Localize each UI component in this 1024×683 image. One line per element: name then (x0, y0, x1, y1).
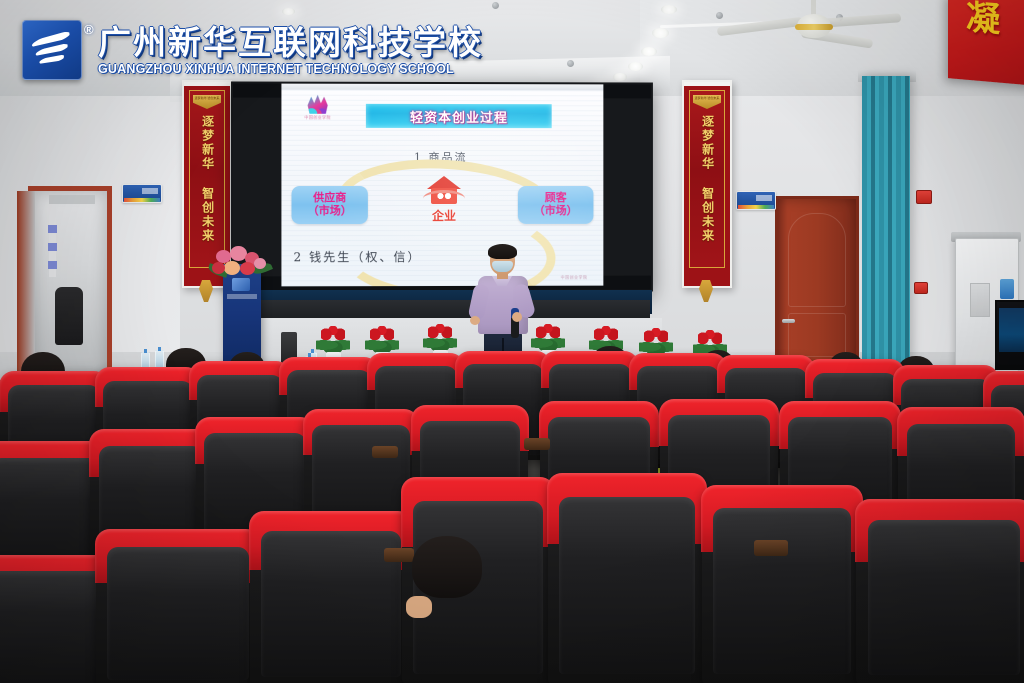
banner-scroll-left-text: 逐梦新华 智创未来 (199, 115, 214, 251)
registered-mark: ® (84, 22, 94, 37)
downlight-icon (628, 62, 643, 71)
slide-node-supplier-line2: （市场） (308, 205, 352, 218)
inner-room-chair (55, 287, 83, 345)
audience-seat[interactable] (856, 500, 1024, 683)
inner-post-note (48, 243, 57, 251)
school-name-cn: 广州新华互联网科技学校 (98, 26, 483, 59)
sprinkler-icon (492, 2, 499, 9)
school-name-en: GUANGZHOU XINHUA INTERNET TECHNOLOGY SCH… (98, 62, 483, 76)
fire-alarm-icon (914, 282, 928, 294)
slide-logo-caption: 中国创业学院 (296, 115, 340, 121)
inner-post-note (48, 225, 57, 233)
downlight-icon (641, 47, 657, 56)
scroll-crest: 逐梦新华 智创未来 (693, 95, 721, 109)
flame-petal-logo-icon (308, 95, 328, 114)
door-handle[interactable] (782, 319, 795, 323)
slide-logo: 中国创业学院 (296, 95, 340, 129)
slide-node-supplier: 供应商 （市场） (292, 186, 368, 224)
top-red-banner-text: 凝 (966, 0, 1000, 42)
door-panel-upper (788, 213, 846, 307)
top-red-banner: 凝 (948, 0, 1024, 86)
face-mask-icon (492, 261, 513, 272)
ceiling-fan-icon (735, 0, 895, 48)
screen-bezel-right (603, 98, 651, 275)
sprinkler-icon (716, 12, 723, 19)
inner-room-vent (49, 195, 95, 204)
blue-wall-sign (122, 184, 162, 203)
slide-watermark: 中国创业学院 (561, 275, 588, 281)
audience-seat[interactable] (702, 486, 862, 683)
audience-seat[interactable] (250, 512, 412, 683)
banner-scroll-right: 逐梦新华 智创未来 逐梦新华 智创未来 (682, 80, 732, 288)
blue-wall-sign (736, 191, 776, 210)
lectern-nameplate (227, 294, 257, 299)
seat-armrest (372, 446, 398, 458)
audience-seat[interactable] (548, 474, 706, 683)
fire-alarm-icon (916, 190, 932, 204)
inner-post-note (48, 261, 57, 269)
seat-armrest (524, 438, 550, 450)
downlight-icon (613, 73, 627, 81)
cabinet-slot (970, 283, 990, 317)
downlight-icon (661, 5, 677, 14)
open-door[interactable] (28, 186, 112, 375)
teal-curtain (862, 76, 910, 376)
lecture-hall-photo: 逐梦新华 智创未来 逐梦新华 智创未来 逐梦新华 智创未来 逐梦新华 智创未来 … (0, 0, 1024, 683)
seat-armrest (754, 540, 788, 556)
wall-monitor (995, 300, 1024, 370)
school-swoosh-logo-icon (22, 20, 82, 80)
projection-screen: 中国创业学院 轻资本创业过程 1 商品流 供应商 （市场） 企业 (231, 81, 653, 292)
cabinet-label (1000, 279, 1014, 299)
presenter-hair (488, 244, 517, 259)
red-house-icon (427, 176, 461, 206)
presenter-right-hand (512, 312, 522, 322)
school-logo-overlay: ® 广州新华互联网科技学校 GUANGZHOU XINHUA INTERNET … (22, 20, 483, 80)
audience-seat[interactable] (96, 530, 260, 683)
presenter-left-hand (470, 316, 480, 325)
downlight-icon (652, 28, 669, 38)
slide-node-customer-line2: （市场） (534, 205, 578, 218)
downlight-icon (282, 8, 295, 15)
slide-point-2: 2 钱先生（权、信） (294, 248, 422, 265)
monitor-screen (999, 308, 1024, 352)
door-leaf (17, 191, 35, 375)
audience-member-front (404, 536, 490, 632)
slide-node-customer: 顾客 （市场） (518, 186, 594, 224)
school-name-block: 广州新华互联网科技学校 GUANGZHOU XINHUA INTERNET TE… (98, 20, 483, 76)
wooden-door[interactable] (775, 196, 859, 369)
scroll-crest: 逐梦新华 智创未来 (193, 95, 221, 109)
slide-title: 轻资本创业过程 (410, 106, 508, 125)
sprinkler-icon (567, 60, 574, 67)
slide-title-bar: 轻资本创业过程 (366, 104, 552, 128)
slide-node-enterprise-label: 企业 (418, 207, 470, 224)
slide-node-enterprise: 企业 (418, 176, 470, 224)
presentation-slide: 中国创业学院 轻资本创业过程 1 商品流 供应商 （市场） 企业 (281, 90, 603, 287)
door-panel-lower (788, 313, 846, 357)
banner-scroll-right-text: 逐梦新华 智创未来 (699, 115, 714, 251)
flower-bouquet (208, 244, 270, 290)
